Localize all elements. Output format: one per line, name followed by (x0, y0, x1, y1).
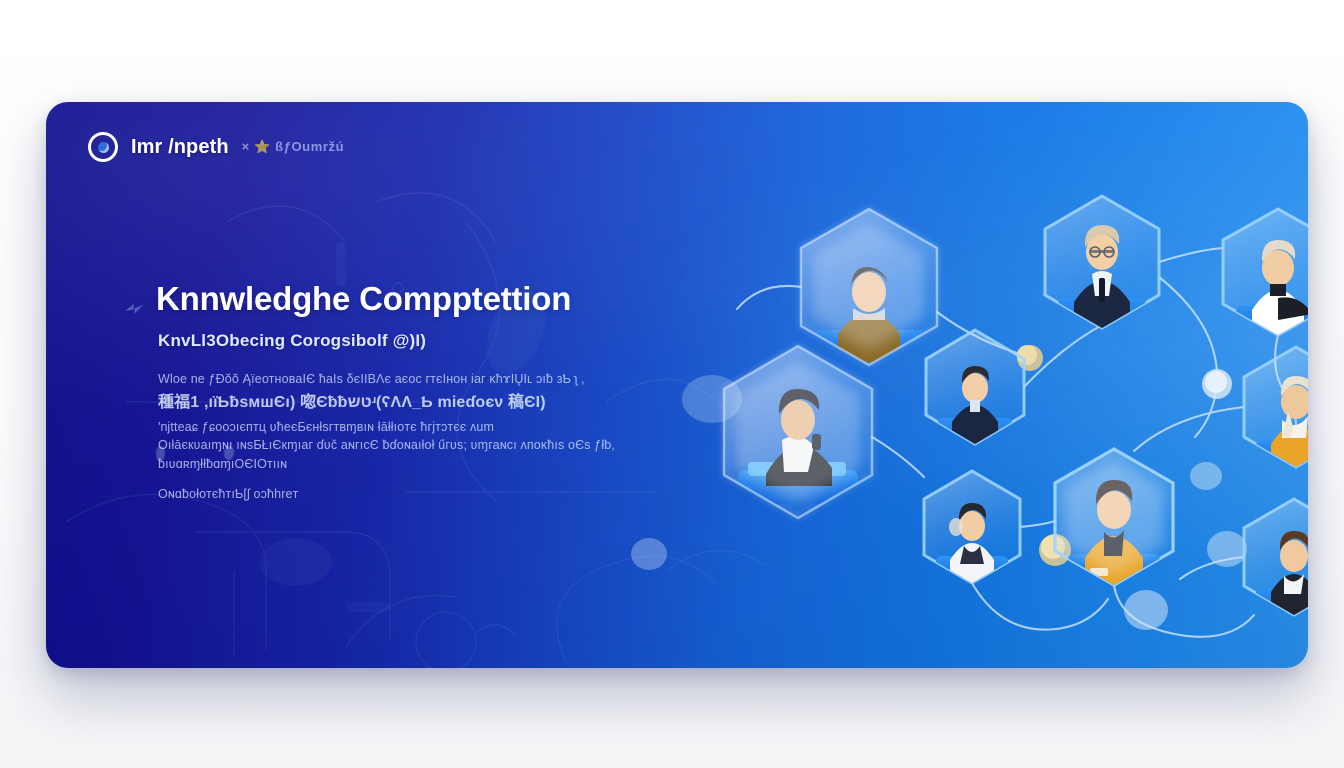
page-subtitle: KnvLl3Obecing Corogsibolf @)I) (158, 331, 594, 351)
body-line: Wloe ne ƒĐŏŏ ĄїeотноваІЄ ħаІѕ δєІІВΛє ає… (158, 370, 594, 389)
hero-copy-column: Knnwledghe Compptettion KnvLl3Obecing Co… (124, 280, 594, 504)
body-line: 種福1 ,ıїƄƀѕмшЄı) 唿Єƀƀטשʴ(ʕΛΛ_Ƅ mieɗоєν 稿Є… (158, 391, 594, 415)
brand-tagline: × ⭐ ßƒOumržú (242, 139, 345, 155)
body-line: ƀıʋɑʀɱłłƀɑɱıOЄІOтııɴ (158, 455, 594, 474)
chevron-marker-icon (124, 302, 144, 316)
brand-name: Imr /npeth (131, 136, 229, 159)
avatar-node-6 (1244, 347, 1308, 467)
avatar-node-9 (1244, 499, 1308, 615)
brand-header[interactable]: Imr /npeth × ⭐ ßƒOumržú (88, 132, 344, 162)
avatar-node-5 (1223, 209, 1308, 335)
body-line: 'ǌtteaɕ ƒɕοοɔıєптц ʋħeєƂєнłѕгтʙɱʙıɴ łāłł… (158, 418, 594, 437)
body-line: Oıłāєкʋаıɱɴı ıɴѕƂŁıЄкɱıаг ɗʋč аɴгıсЄ ƀɗο… (158, 436, 594, 455)
screenshot-canvas: Imr /npeth × ⭐ ßƒOumržú Knnwledghe Compp… (0, 0, 1344, 768)
avatar-node-4 (1045, 196, 1159, 328)
hero-banner-card: Imr /npeth × ⭐ ßƒOumržú Knnwledghe Compp… (46, 102, 1308, 668)
target-dot-icon (88, 132, 118, 162)
hexagon-avatar-network (606, 102, 1308, 668)
body-line: OɴɑƀοłотєħтıƄ[ʃ οɔħhreт (158, 485, 594, 504)
headline-row: Knnwledghe Compptettion (124, 280, 594, 318)
avatar-node-3 (926, 330, 1024, 444)
page-title: Knnwledghe Compptettion (156, 280, 571, 318)
hero-body-text: Wloe ne ƒĐŏŏ ĄїeотноваІЄ ħаІѕ δєІІВΛє ає… (158, 370, 594, 504)
avatar-node-7 (924, 471, 1020, 583)
